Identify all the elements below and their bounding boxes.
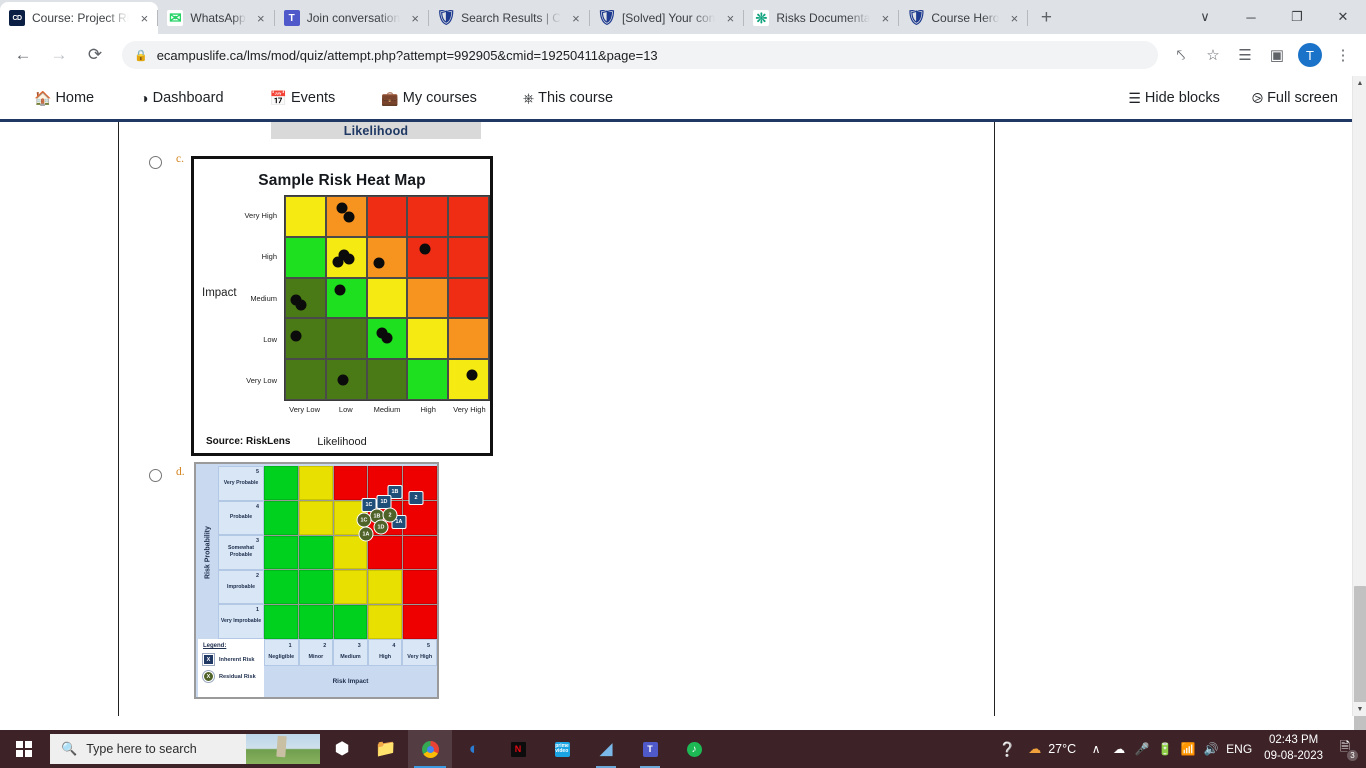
weather-widget[interactable]: ☁ 27°C: [1020, 741, 1084, 757]
forward-icon[interactable]: →: [44, 40, 74, 70]
office-icon[interactable]: ◐: [452, 730, 496, 768]
matrix-cell: [264, 605, 298, 639]
search-placeholder: Type here to search: [86, 742, 196, 756]
legend-title: Legend:: [203, 643, 260, 649]
moodle-navbar: 🏠 Home ◑ Dashboard 📅 Events 💼 My courses…: [0, 76, 1352, 119]
heat-map-grid: [284, 195, 490, 401]
fullscreen-icon: ⧁: [1252, 91, 1263, 105]
start-button[interactable]: [0, 730, 48, 768]
heat-map-cell: [367, 318, 408, 359]
heat-map-cell: [285, 278, 326, 319]
quiz-option-c[interactable]: c.: [149, 156, 184, 169]
y-tick: 5 Very Probable: [218, 466, 264, 501]
heat-map-data-point: [291, 331, 302, 342]
tab-close-icon[interactable]: ×: [253, 10, 269, 26]
nav-label: Home: [55, 90, 94, 106]
notification-center-icon[interactable]: 🗎 3: [1332, 730, 1358, 768]
chrome-icon[interactable]: [408, 730, 452, 768]
matrix-xlabel: Risk Impact: [264, 666, 437, 697]
dashboard-icon: ◑: [140, 91, 148, 105]
y-tick: Very Low: [228, 360, 282, 401]
heat-map-data-point: [343, 253, 354, 264]
browser-tab-3[interactable]: 🛡 Search Results | C ×: [429, 2, 590, 34]
microphone-icon[interactable]: 🎤: [1131, 730, 1153, 768]
tab-close-icon[interactable]: ×: [568, 10, 584, 26]
course-icon: CD: [9, 10, 25, 26]
bookmark-star-icon[interactable]: ☆: [1198, 40, 1228, 70]
x-tick: 2 Minor: [299, 639, 334, 666]
shield-icon: 🛡: [599, 10, 615, 26]
matrix-cell: [403, 501, 437, 535]
tab-close-icon[interactable]: ×: [877, 10, 893, 26]
option-letter: d.: [176, 466, 185, 478]
scroll-up-arrow[interactable]: ▲: [1353, 76, 1366, 90]
address-bar[interactable]: 🔒 ecampuslife.ca/lms/mod/quiz/attempt.ph…: [122, 41, 1158, 69]
matrix-cell: [403, 605, 437, 639]
netflix-glyph: N: [511, 742, 526, 757]
x-tick: Very Low: [284, 403, 325, 429]
x-tick: 4 High: [368, 639, 403, 666]
browser-tab-title: Join conversation: [307, 11, 400, 25]
y-tick-label: Very Improbable: [221, 618, 261, 625]
sitemap-icon: ⎈: [523, 91, 534, 105]
y-tick-number: 3: [256, 538, 259, 545]
vertical-scrollbar[interactable]: ▲ ▼: [1352, 76, 1366, 716]
whatsapp-icon: ✉: [167, 10, 183, 26]
heat-map-cell: [448, 196, 489, 237]
scroll-down-arrow[interactable]: ▼: [1353, 702, 1366, 716]
quiz-content-column: Likelihood c. Sample Risk Heat Map Impac…: [118, 122, 995, 716]
onedrive-icon[interactable]: ☁: [1108, 730, 1130, 768]
heat-map-cell: [448, 318, 489, 359]
new-tab-button[interactable]: +: [1032, 4, 1060, 32]
browser-tab-1[interactable]: ✉ WhatsApp ×: [158, 2, 274, 34]
y-tick-label: Somewhat Probable: [219, 545, 263, 559]
matrix-cell: [368, 570, 402, 604]
edge-icon[interactable]: ◢: [584, 730, 628, 768]
taskbar-clock[interactable]: 02:43 PM 09-08-2023: [1256, 733, 1331, 764]
x-tick: 5 Very High: [402, 639, 437, 666]
home-icon: 🏠: [34, 91, 51, 105]
legend-entry-inherent-risk: X Inherent Risk: [203, 654, 260, 665]
x-tick-label: High: [379, 654, 391, 660]
x-tick-number: 5: [427, 643, 430, 649]
y-tick-label: Very Probable: [224, 480, 259, 487]
x-tick-number: 1: [289, 643, 292, 649]
browser-tab-title: Search Results | C: [461, 11, 561, 25]
heat-map-cell: [367, 196, 408, 237]
browser-tab-2[interactable]: T Join conversation ×: [275, 2, 429, 34]
browser-tab-strip: CD Course: Project Ri × ✉ WhatsApp × T J…: [0, 0, 1366, 34]
nav-item-home[interactable]: 🏠 Home: [34, 90, 94, 106]
heat-map-title: Sample Risk Heat Map: [194, 172, 490, 190]
windows-logo-icon: [16, 741, 32, 757]
heat-map-cell: [407, 196, 448, 237]
y-tick-number: 2: [256, 573, 259, 580]
heat-map-cell: [326, 237, 367, 278]
heat-map-cell: [285, 237, 326, 278]
previous-option-likelihood-label: Likelihood: [271, 122, 481, 139]
heat-map-y-ticks: Very High High Medium Low Very Low: [228, 195, 282, 401]
nav-label: Full screen: [1267, 90, 1338, 106]
y-tick-number: 4: [256, 504, 259, 511]
chrome-menu-icon[interactable]: ⋮: [1328, 40, 1358, 70]
volume-icon[interactable]: 🔊: [1200, 730, 1222, 768]
heat-map-data-point: [334, 285, 345, 296]
y-tick: 2 Improbable: [218, 570, 264, 605]
x-tick: Very High: [449, 403, 490, 429]
matrix-cell: [403, 536, 437, 570]
heat-map-cell: [407, 318, 448, 359]
browser-tab-0[interactable]: CD Course: Project Ri ×: [0, 2, 158, 34]
taskbar-search-input[interactable]: 🔍 Type here to search: [50, 734, 320, 764]
browser-toolbar: ← → ⟳ 🔒 ecampuslife.ca/lms/mod/quiz/atte…: [0, 34, 1366, 76]
heat-map-cell: [407, 237, 448, 278]
nav-item-my-courses[interactable]: 💼 My courses: [381, 90, 477, 106]
heat-map-cell: [326, 278, 367, 319]
wifi-icon[interactable]: 📶: [1177, 730, 1199, 768]
nav-label: My courses: [403, 90, 477, 106]
show-hidden-icons-chevron[interactable]: ∧: [1085, 730, 1107, 768]
heat-map-cell: [285, 359, 326, 400]
inherent-risk-icon: X: [203, 654, 214, 665]
x-tick-label: Medium: [340, 654, 360, 660]
minimize-button[interactable]: ─: [1228, 0, 1274, 34]
tab-close-icon[interactable]: ×: [1006, 10, 1022, 26]
system-tray: ❔ ☁ 27°C ∧ ☁ 🎤 🔋 📶 🔊 ENG 02:43 PM 09-08-…: [996, 730, 1366, 768]
shield-icon: 🛡: [908, 10, 924, 26]
heat-map-cell: [326, 196, 367, 237]
weather-icon: ☁: [1028, 741, 1041, 757]
x-tick: Low: [325, 403, 366, 429]
x-tick-number: 2: [323, 643, 326, 649]
browser-tab-title: Risks Documenta: [776, 11, 870, 25]
x-tick-label: Very High: [407, 654, 432, 660]
nav-label: Events: [291, 90, 335, 106]
browser-tab-title: Course Hero: [931, 11, 999, 25]
tab-search-icon[interactable]: ∨: [1182, 0, 1228, 34]
heat-map-data-point: [466, 369, 477, 380]
nav-label: Hide blocks: [1145, 90, 1220, 106]
heat-map-cell: [367, 278, 408, 319]
heat-map-cell: [407, 359, 448, 400]
x-tick: 3 Medium: [333, 639, 368, 666]
browser-tab-4[interactable]: 🛡 [Solved] Your con ×: [590, 2, 744, 34]
y-tick: 4 Probable: [218, 501, 264, 536]
y-tick: 3 Somewhat Probable: [218, 535, 264, 570]
hide-blocks-icon: ☰: [1128, 91, 1141, 105]
matrix-y-ticks: 5 Very Probable 4 Probable 3 Somewhat Pr…: [218, 466, 264, 639]
heat-map-cell: [326, 318, 367, 359]
full-screen-button[interactable]: ⧁ Full screen: [1252, 90, 1338, 106]
legend-label: Residual Risk: [219, 674, 256, 680]
chrome-center: [427, 746, 434, 753]
heat-map-cell: [448, 278, 489, 319]
teams-icon: T: [284, 10, 300, 26]
matrix-cell: [299, 570, 333, 604]
radio-option-c[interactable]: [149, 156, 162, 169]
sidebar-icon[interactable]: ▣: [1262, 40, 1292, 70]
task-view-icon[interactable]: ⬢: [320, 730, 364, 768]
language-indicator[interactable]: ENG: [1223, 730, 1255, 768]
radio-option-d[interactable]: [149, 469, 162, 482]
calendar-icon: 📅: [270, 91, 287, 105]
x-tick: High: [408, 403, 449, 429]
moodle-navbar-right: ☰ Hide blocks ⧁ Full screen: [1128, 76, 1352, 119]
notification-count: 3: [1346, 749, 1359, 762]
tab-separator: [1027, 10, 1028, 26]
tab-close-icon[interactable]: ×: [136, 10, 152, 26]
option-letter: c.: [176, 153, 184, 165]
x-tick-label: Minor: [309, 654, 324, 660]
spotify-icon[interactable]: ♪: [672, 730, 716, 768]
sample-risk-heat-map-figure: Sample Risk Heat Map Impact Very High Hi…: [191, 156, 493, 456]
matrix-cell: [368, 605, 402, 639]
matrix-cell: [334, 466, 368, 500]
battery-icon[interactable]: 🔋: [1154, 730, 1176, 768]
chrome-glyph: [422, 741, 439, 758]
nav-item-events[interactable]: 📅 Events: [270, 90, 336, 106]
file-explorer-icon[interactable]: 📁: [364, 730, 408, 768]
share-icon[interactable]: ⤣: [1166, 40, 1196, 70]
nav-label: This course: [538, 90, 613, 106]
heat-map-cell: [367, 237, 408, 278]
browser-tab-6[interactable]: 🛡 Course Hero ×: [899, 2, 1028, 34]
chatgpt-icon: ❊: [753, 10, 769, 26]
heat-map-data-point: [338, 375, 349, 386]
browser-tab-title: Course: Project Ri: [32, 11, 129, 25]
teams-icon[interactable]: T: [628, 730, 672, 768]
y-tick-number: 1: [256, 607, 259, 614]
url-text: ecampuslife.ca/lms/mod/quiz/attempt.php?…: [157, 48, 658, 63]
nav-item-dashboard[interactable]: ◑ Dashboard: [140, 90, 223, 106]
browser-tab-5[interactable]: ❊ Risks Documenta ×: [744, 2, 899, 34]
nav-item-this-course[interactable]: ⎈ This course: [523, 90, 613, 106]
matrix-cell: [299, 536, 333, 570]
matrix-cell: [299, 605, 333, 639]
heat-map-cell: [448, 359, 489, 400]
matrix-x-ticks: 1 Negligible 2 Minor 3 Medium 4 High 5: [264, 639, 437, 666]
x-tick-number: 3: [358, 643, 361, 649]
matrix-cell: [403, 570, 437, 604]
hide-blocks-button[interactable]: ☰ Hide blocks: [1128, 90, 1220, 106]
residual-risk-marker: 1C: [357, 513, 372, 528]
browser-tab-title: [Solved] Your con: [622, 11, 715, 25]
quiz-page-viewport: Likelihood c. Sample Risk Heat Map Impac…: [0, 119, 1352, 716]
matrix-ylabel: Risk Probability: [198, 466, 218, 639]
matrix-cell: [264, 501, 298, 535]
heat-map-data-point: [344, 212, 355, 223]
matrix-cell: [264, 570, 298, 604]
x-tick: Medium: [366, 403, 407, 429]
heat-map-data-point: [419, 243, 430, 254]
y-tick-label: Improbable: [227, 584, 255, 591]
matrix-cell: [299, 466, 333, 500]
x-tick-number: 4: [392, 643, 395, 649]
maximize-button[interactable]: ❐: [1274, 0, 1320, 34]
prime-video-icon[interactable]: primevideo: [540, 730, 584, 768]
heat-map-cell: [285, 196, 326, 237]
x-tick: 1 Negligible: [264, 639, 299, 666]
matrix-plot-area: 1B21C1D1A1B21C1D1A: [264, 466, 437, 639]
y-tick: High: [228, 236, 282, 277]
shield-icon: 🛡: [438, 10, 454, 26]
heat-map-data-point: [295, 299, 306, 310]
residual-risk-marker: 1A: [359, 527, 374, 542]
matrix-cell: [264, 536, 298, 570]
teams-glyph: T: [643, 742, 658, 757]
heat-map-xlabel: Likelihood: [194, 436, 490, 448]
reading-list-icon[interactable]: ☰: [1230, 40, 1260, 70]
browser-tab-title: WhatsApp: [190, 11, 245, 25]
lock-icon: 🔒: [134, 49, 148, 62]
search-thumbnail-image: [246, 734, 320, 764]
window-controls: ∨ ─ ❐ ✕: [1182, 0, 1366, 34]
heat-map-data-point: [381, 333, 392, 344]
matrix-cell: [334, 570, 368, 604]
inherent-risk-marker: 2: [409, 491, 424, 505]
y-tick: Medium: [228, 277, 282, 318]
briefcase-icon: 💼: [381, 91, 398, 105]
residual-risk-marker: 1D: [374, 520, 389, 535]
heat-map-cell: [448, 237, 489, 278]
matrix-cell: [334, 605, 368, 639]
back-icon[interactable]: ←: [8, 40, 38, 70]
y-tick: Very High: [228, 195, 282, 236]
matrix-cell: [299, 501, 333, 535]
tab-close-icon[interactable]: ×: [722, 10, 738, 26]
matrix-cell: [368, 536, 402, 570]
matrix-legend: Legend: X Inherent Risk X Residual Risk: [198, 639, 264, 697]
heat-map-data-point: [333, 256, 344, 267]
heat-map-cell: [285, 318, 326, 359]
residual-risk-icon: X: [203, 671, 214, 682]
legend-entry-residual-risk: X Residual Risk: [203, 671, 260, 682]
reload-icon[interactable]: ⟳: [80, 40, 110, 70]
profile-avatar[interactable]: T: [1298, 43, 1322, 67]
heat-map-data-point: [374, 258, 385, 269]
temperature-text: 27°C: [1048, 742, 1076, 756]
heat-map-cell: [367, 359, 408, 400]
risk-probability-impact-matrix-figure: Risk Probability 5 Very Probable 4 Proba…: [194, 462, 439, 699]
close-button[interactable]: ✕: [1320, 0, 1366, 34]
windows-taskbar: 🔍 Type here to search ⬢ 📁 ◐ N primevideo…: [0, 730, 1366, 768]
nav-label: Dashboard: [153, 90, 224, 106]
heat-map-x-ticks: Very Low Low Medium High Very High: [284, 403, 490, 429]
prime-video-glyph: primevideo: [555, 742, 570, 757]
x-tick-label: Negligible: [268, 654, 294, 660]
y-tick-number: 5: [256, 469, 259, 476]
tab-close-icon[interactable]: ×: [407, 10, 423, 26]
spotify-glyph: ♪: [687, 742, 702, 757]
heat-map-cell: [326, 359, 367, 400]
search-icon: 🔍: [61, 741, 77, 757]
y-tick: Low: [228, 319, 282, 360]
help-icon[interactable]: ❔: [996, 730, 1019, 768]
y-tick-label: Probable: [230, 514, 252, 521]
y-tick: 1 Very Improbable: [218, 604, 264, 639]
matrix-cell: [264, 466, 298, 500]
legend-label: Inherent Risk: [219, 657, 254, 663]
toolbar-icons: ⤣ ☆ ☰ ▣ T ⋮: [1166, 40, 1358, 70]
clock-time: 02:43 PM: [1269, 733, 1318, 749]
quiz-option-d[interactable]: d.: [149, 469, 185, 482]
netflix-icon[interactable]: N: [496, 730, 540, 768]
clock-date: 09-08-2023: [1264, 749, 1323, 765]
heat-map-cell: [407, 278, 448, 319]
